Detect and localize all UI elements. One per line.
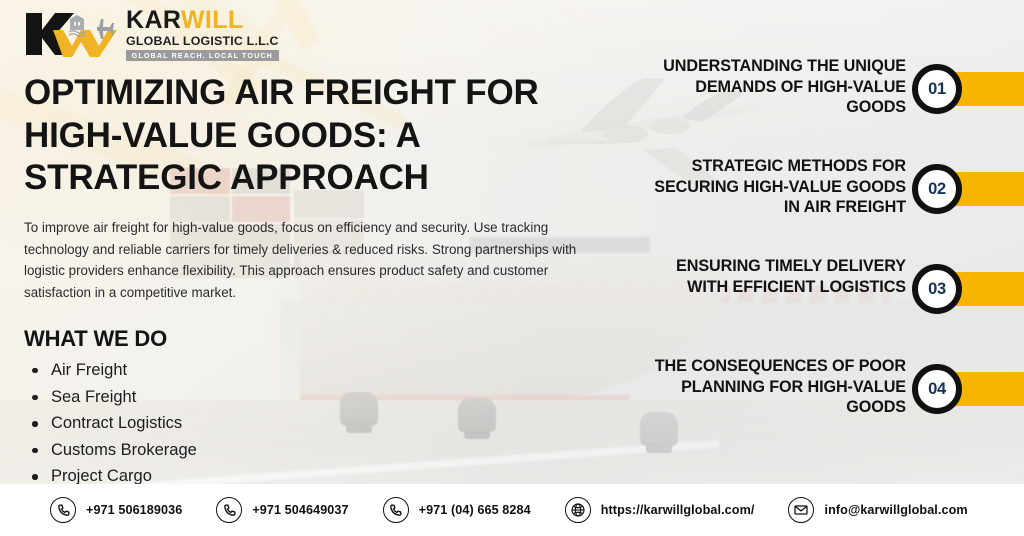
list-item: Air Freight — [24, 361, 624, 379]
step-item-03: 03 ENSURING TIMELY DELIVERY WITH EFFICIE… — [648, 246, 1024, 346]
phone-icon — [383, 497, 409, 523]
step-label: UNDERSTANDING THE UNIQUE DEMANDS OF HIGH… — [648, 56, 906, 118]
phone-icon — [216, 497, 242, 523]
step-item-04: 04 THE CONSEQUENCES OF POOR PLANNING FOR… — [648, 346, 1024, 446]
step-number: 04 — [928, 380, 946, 399]
contact-phone-2[interactable]: +971 504649037 — [216, 497, 348, 523]
step-number-badge: 01 — [912, 64, 962, 114]
step-item-02: 02 STRATEGIC METHODS FOR SECURING HIGH-V… — [648, 146, 1024, 246]
contact-value: +971 504649037 — [252, 503, 348, 517]
contact-phone-1[interactable]: +971 506189036 — [50, 497, 182, 523]
intro-paragraph: To improve air freight for high-value go… — [24, 217, 602, 304]
envelope-icon — [788, 497, 814, 523]
step-number: 03 — [928, 280, 946, 299]
list-item: Project Cargo — [24, 467, 624, 485]
list-item: Customs Brokerage — [24, 441, 624, 459]
logo-name: KARWILL — [126, 8, 279, 33]
step-number-badge: 02 — [912, 164, 962, 214]
step-label: STRATEGIC METHODS FOR SECURING HIGH-VALU… — [648, 156, 906, 218]
page-title: OPTIMIZING AIR FREIGHT FOR HIGH-VALUE GO… — [24, 72, 624, 200]
company-logo[interactable]: KARWILL GLOBAL LOGISTIC L.L.C GLOBAL REA… — [22, 8, 279, 61]
contact-website[interactable]: https://karwillglobal.com/ — [565, 497, 755, 523]
step-number: 01 — [928, 80, 946, 99]
services-heading: WHAT WE DO — [24, 326, 624, 352]
logo-name-will: WILL — [181, 6, 244, 34]
step-number-badge: 04 — [912, 364, 962, 414]
step-number-badge: 03 — [912, 264, 962, 314]
left-content: OPTIMIZING AIR FREIGHT FOR HIGH-VALUE GO… — [24, 72, 624, 494]
contact-value: info@karwillglobal.com — [824, 503, 967, 517]
list-item: Sea Freight — [24, 388, 624, 406]
logo-subtitle: GLOBAL LOGISTIC L.L.C — [126, 35, 279, 47]
step-item-01: 01 UNDERSTANDING THE UNIQUE DEMANDS OF H… — [648, 46, 1024, 146]
contact-value: https://karwillglobal.com/ — [601, 503, 755, 517]
contact-footer: +971 506189036 +971 504649037 +971 (04) … — [0, 484, 1024, 536]
step-label: ENSURING TIMELY DELIVERY WITH EFFICIENT … — [648, 256, 906, 297]
step-number: 02 — [928, 180, 946, 199]
contact-value: +971 (04) 665 8284 — [419, 503, 531, 517]
services-list: Air Freight Sea Freight Contract Logisti… — [24, 361, 624, 486]
steps-list: 01 UNDERSTANDING THE UNIQUE DEMANDS OF H… — [648, 46, 1024, 446]
globe-icon — [565, 497, 591, 523]
contact-phone-3[interactable]: +971 (04) 665 8284 — [383, 497, 531, 523]
logo-name-kar: KAR — [126, 6, 181, 34]
kw-monogram-icon — [22, 10, 117, 58]
contact-value: +971 506189036 — [86, 503, 182, 517]
contact-email[interactable]: info@karwillglobal.com — [788, 497, 967, 523]
infographic-poster: KARWILL GLOBAL LOGISTIC L.L.C GLOBAL REA… — [0, 0, 1024, 536]
list-item: Contract Logistics — [24, 414, 624, 432]
logo-wordmark: KARWILL GLOBAL LOGISTIC L.L.C GLOBAL REA… — [126, 8, 279, 61]
logo-tagline: GLOBAL REACH. LOCAL TOUCH — [126, 50, 279, 60]
phone-icon — [50, 497, 76, 523]
step-label: THE CONSEQUENCES OF POOR PLANNING FOR HI… — [648, 356, 906, 418]
